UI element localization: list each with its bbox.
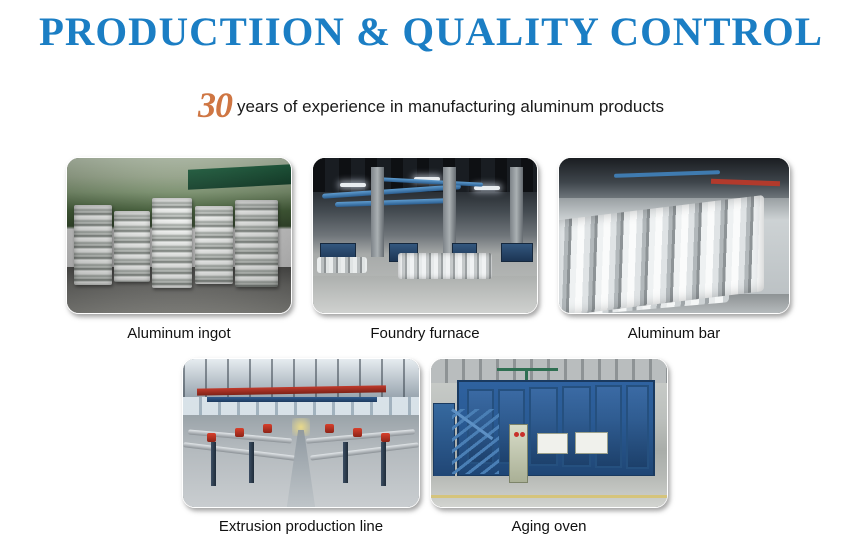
warehouse-background xyxy=(559,158,789,198)
extrusion-line-tile[interactable] xyxy=(182,358,420,508)
page-title: PRODUCTIION & QUALITY CONTROL xyxy=(0,8,862,55)
oven-panel xyxy=(595,385,622,467)
production-quality-control-page: PRODUCTIION & QUALITY CONTROL 30years of… xyxy=(0,0,862,551)
indicator-lamp xyxy=(520,432,525,437)
furnace-machine xyxy=(501,243,532,262)
floor-marking-line xyxy=(431,495,667,498)
years-number: 30 xyxy=(198,85,232,125)
conveyor-leg xyxy=(211,442,216,486)
ceiling-lamp xyxy=(340,183,366,187)
indicator-lamp xyxy=(514,432,519,437)
oven-panel xyxy=(626,385,649,469)
roller xyxy=(235,428,244,437)
aluminum-ingot-caption: Aluminum ingot xyxy=(66,325,292,342)
billet-bundle xyxy=(398,253,492,279)
aging-oven-tile[interactable] xyxy=(430,358,668,508)
billet-bundle xyxy=(317,257,366,273)
conveyor-leg xyxy=(343,442,348,483)
subtitle-text: years of experience in manufacturing alu… xyxy=(237,97,664,116)
info-sign xyxy=(575,432,608,454)
support-column xyxy=(371,167,384,257)
blue-crane-beam xyxy=(207,397,377,402)
aluminum-ingot-tile[interactable] xyxy=(66,157,292,314)
workshop-floor xyxy=(431,476,667,507)
factory-floor xyxy=(313,276,537,313)
info-sign xyxy=(537,433,568,454)
extrusion-line-photo xyxy=(183,359,419,507)
foundry-furnace-tile[interactable] xyxy=(312,157,538,314)
roller xyxy=(263,424,272,433)
foundry-furnace-photo xyxy=(313,158,537,313)
aluminum-bar-photo xyxy=(559,158,789,313)
aluminum-ingot-photo xyxy=(67,158,291,313)
roller xyxy=(353,428,362,437)
support-column xyxy=(510,167,523,248)
foundry-furnace-caption: Foundry furnace xyxy=(312,325,538,342)
access-staircase xyxy=(452,409,499,474)
experience-subtitle: 30years of experience in manufacturing a… xyxy=(0,84,862,126)
aluminum-bar-tile[interactable] xyxy=(558,157,790,314)
conveyor-leg xyxy=(249,442,254,483)
conveyor-leg xyxy=(381,442,386,486)
roller xyxy=(325,424,334,433)
roller xyxy=(381,433,390,442)
blue-pipe xyxy=(335,198,456,207)
aluminum-bar-caption: Aluminum bar xyxy=(558,325,790,342)
aging-oven-caption: Aging oven xyxy=(430,518,668,535)
aging-oven-photo xyxy=(431,359,667,507)
control-cabinet xyxy=(509,424,528,483)
roller xyxy=(207,433,216,442)
oven-panel xyxy=(529,387,558,466)
oven-panel xyxy=(562,386,591,467)
extrusion-line-caption: Extrusion production line xyxy=(182,518,420,535)
photo-vignette xyxy=(67,158,291,313)
